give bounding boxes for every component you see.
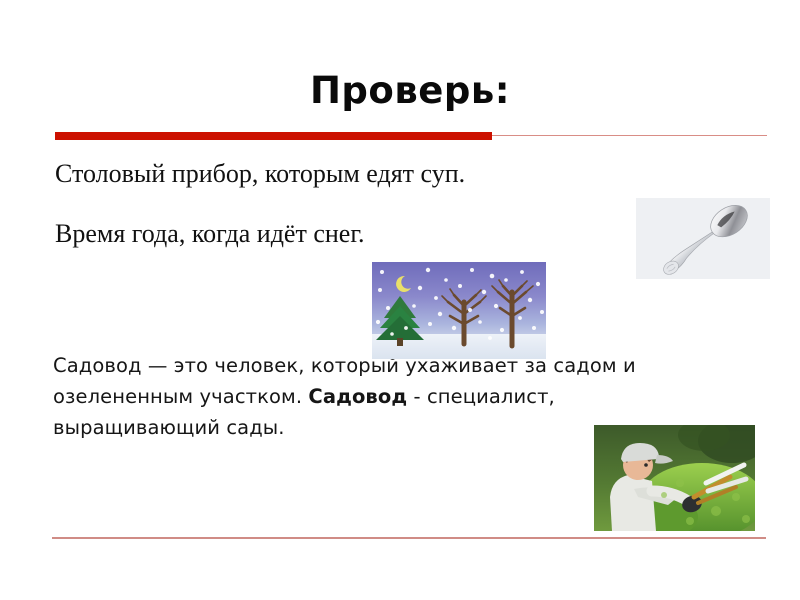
bare-tree-icon-1 bbox=[442, 289, 486, 344]
bare-tree-icon-2 bbox=[492, 280, 533, 346]
divider-top-accent-bar bbox=[55, 132, 492, 140]
moon-icon bbox=[396, 276, 411, 292]
divider-bottom bbox=[52, 537, 766, 539]
spoon-icon bbox=[636, 198, 770, 279]
gardener-image: Садовод в белой кепке подстригает зелёну… bbox=[594, 425, 755, 531]
page-title: Проверь: bbox=[55, 72, 765, 111]
fir-tree-icon bbox=[376, 296, 424, 346]
winter-scene-image: Зимний рисунок: снегопад, ёлка и два гол… bbox=[372, 262, 546, 359]
riddle-line-1: Столовый прибор, которым едят суп. bbox=[55, 158, 465, 189]
winter-scene-illustration bbox=[372, 262, 546, 359]
riddle-line-2: Время года, когда идёт снег. bbox=[55, 218, 365, 249]
spoon-image: Металлическая столовая ложка на светлом … bbox=[636, 198, 770, 279]
slide-canvas: Проверь: Столовый прибор, которым едят с… bbox=[0, 0, 800, 600]
divider-top bbox=[55, 132, 767, 140]
definition-term-bold: Садовод bbox=[308, 385, 407, 408]
definition-paragraph: Садовод — это человек, который ухаживает… bbox=[53, 350, 663, 443]
gardener-illustration bbox=[594, 425, 755, 531]
